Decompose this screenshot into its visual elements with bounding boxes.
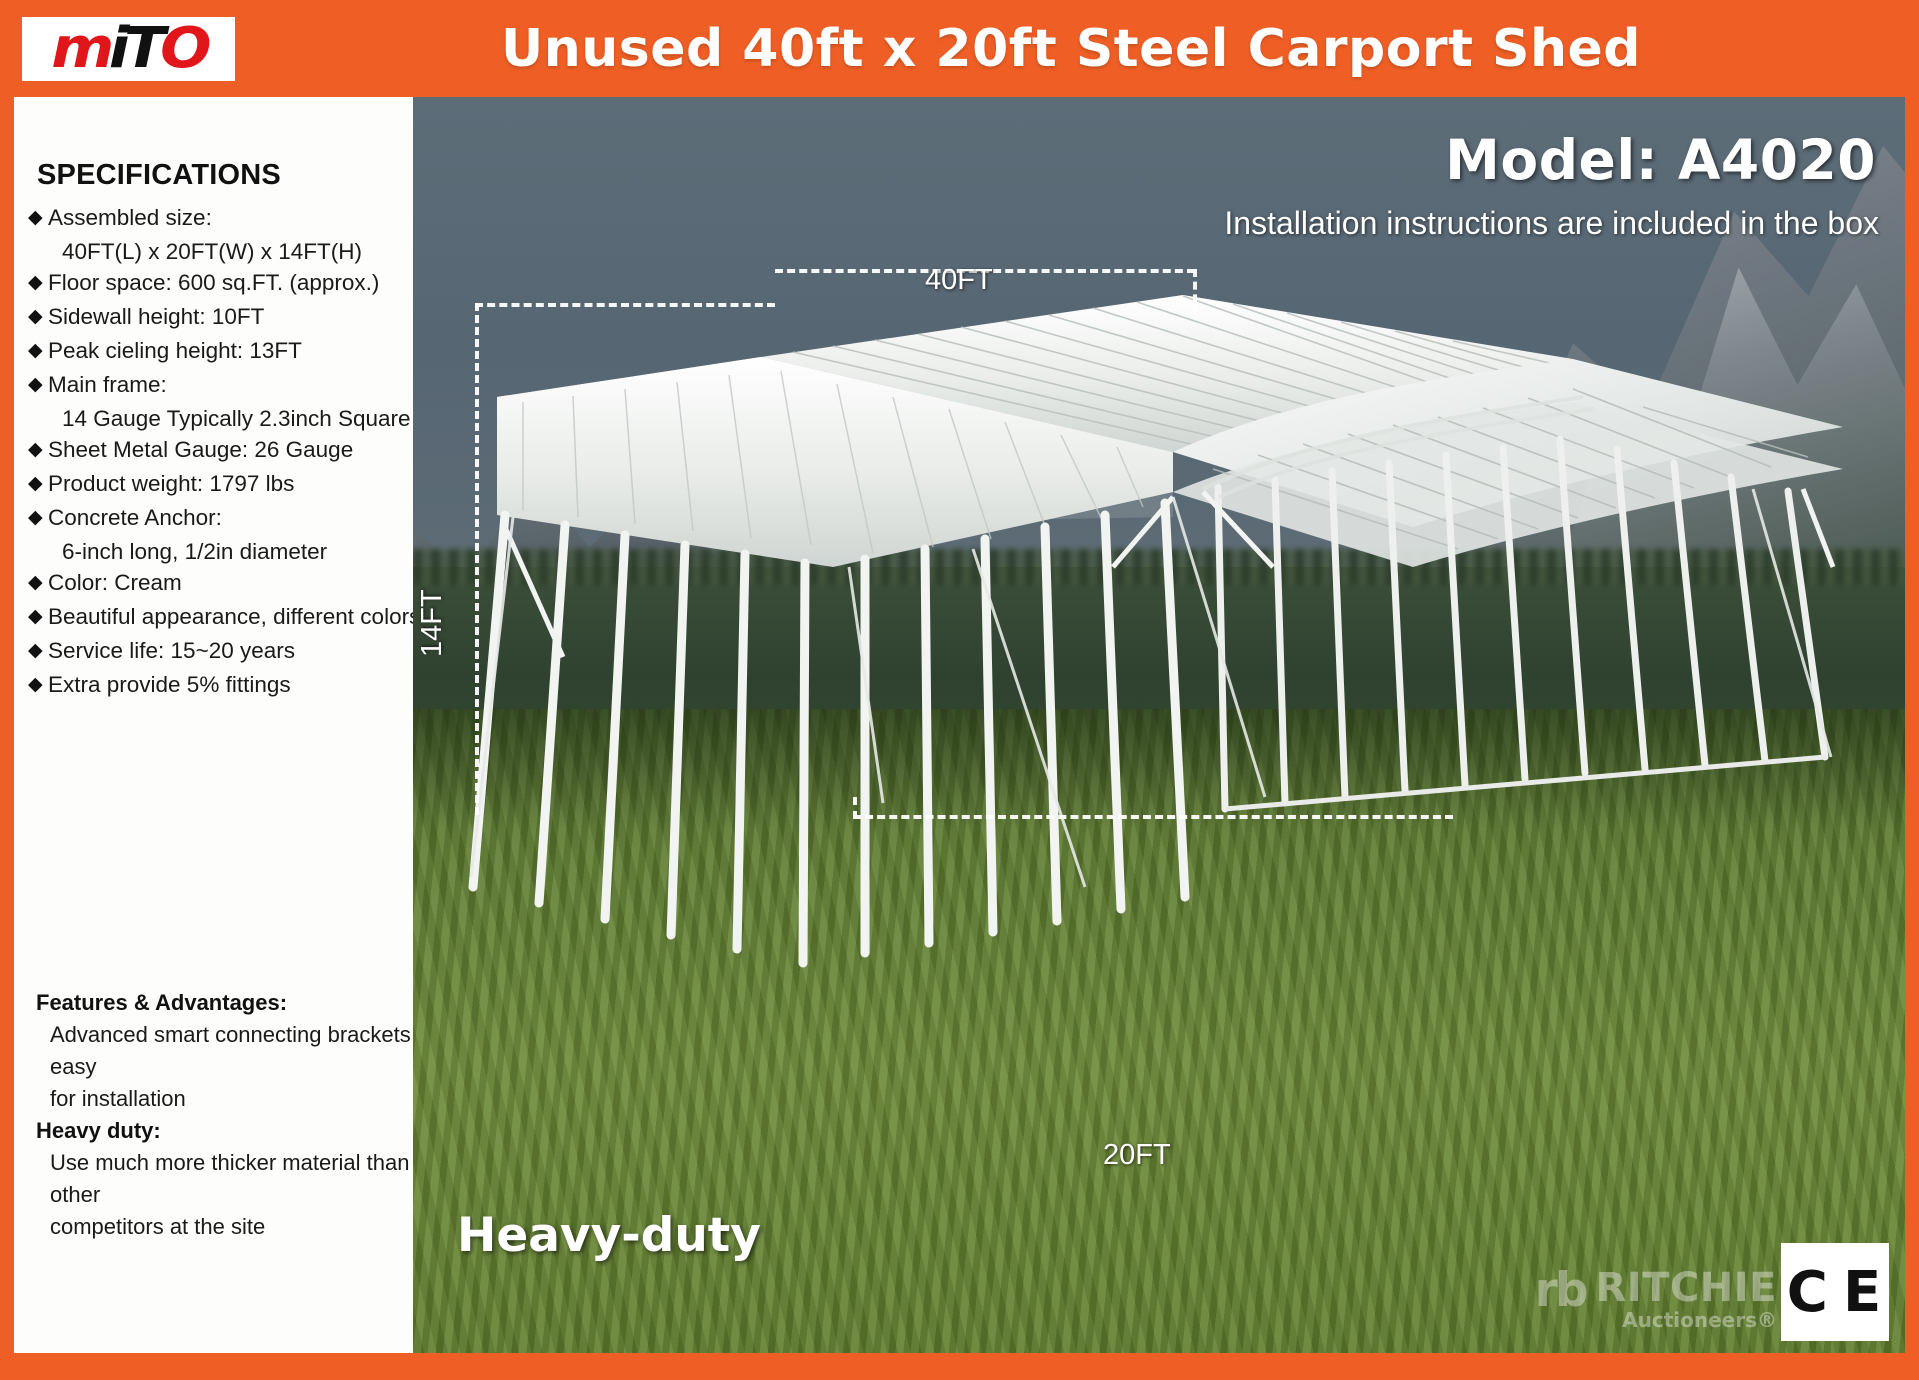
features-line-1: Advanced smart connecting brackets easy: [50, 1019, 413, 1083]
mito-logo-wordmark: miTO: [51, 21, 206, 77]
spec-item-label: Color: Cream: [48, 567, 182, 598]
spec-item-detail: 6-inch long, 1/2in diameter: [62, 536, 403, 567]
spec-item-label: Beautiful appearance, different colors: [48, 601, 413, 632]
diamond-bullet-icon: ◆: [28, 369, 48, 400]
logo-letter-o: O: [160, 17, 206, 81]
features-line-2: for installation: [50, 1083, 413, 1115]
diamond-bullet-icon: ◆: [28, 601, 48, 632]
spec-item-label: Service life: 15~20 years: [48, 635, 295, 666]
diamond-bullet-icon: ◆: [28, 434, 48, 465]
mito-logo: miTO: [22, 17, 235, 81]
spec-item-label: Extra provide 5% fittings: [48, 669, 291, 700]
page-title: Unused 40ft x 20ft Steel Carport Shed: [246, 0, 1896, 97]
spec-item: ◆Concrete Anchor:: [28, 502, 403, 533]
diamond-bullet-icon: ◆: [28, 267, 48, 298]
spec-item: ◆Color: Cream: [28, 567, 403, 598]
spec-item: ◆Product weight: 1797 lbs: [28, 468, 403, 499]
spec-item-label: Sidewall height: 10FT: [48, 301, 264, 332]
product-spec-poster: miTO Unused 40ft x 20ft Steel Carport Sh…: [0, 0, 1919, 1380]
logo-letters-it: iT: [109, 17, 160, 81]
installation-note: Installation instructions are included i…: [1224, 205, 1879, 242]
spec-item-label: Peak cieling height: 13FT: [48, 335, 302, 366]
dimension-guide-top-left: [475, 303, 775, 307]
heavy-duty-caption: Heavy-duty: [457, 1208, 761, 1263]
diamond-bullet-icon: ◆: [28, 468, 48, 499]
spec-item-label: Product weight: 1797 lbs: [48, 468, 294, 499]
spec-item: ◆Main frame:: [28, 369, 403, 400]
features-line-3: Use much more thicker material than othe…: [50, 1147, 413, 1211]
dimension-guide-bottom-left: [853, 797, 857, 819]
spec-item-label: Floor space: 600 sq.FT. (approx.): [48, 267, 379, 298]
diamond-bullet-icon: ◆: [28, 669, 48, 700]
features-line-4: competitors at the site: [50, 1211, 413, 1243]
spec-item-label: Sheet Metal Gauge: 26 Gauge: [48, 434, 353, 465]
dimension-label-width: 20FT: [1103, 1139, 1171, 1172]
specifications-panel: SPECIFICATIONS ◆Assembled size:40FT(L) x…: [14, 97, 413, 1353]
spec-item: ◆Peak cieling height: 13FT: [28, 335, 403, 366]
spec-item-detail: 40FT(L) x 20FT(W) x 14FT(H): [62, 236, 403, 267]
features-advantages-section: Features & Advantages: Advanced smart co…: [28, 987, 413, 1243]
logo-letter-m: m: [51, 17, 109, 81]
spec-item-detail: 14 Gauge Typically 2.3inch Square Tube: [62, 403, 403, 434]
diamond-bullet-icon: ◆: [28, 567, 48, 598]
spec-item-label: Assembled size:: [48, 202, 212, 233]
dimension-label-height: 14FT: [416, 589, 449, 657]
spec-item: ◆Floor space: 600 sq.FT. (approx.): [28, 267, 403, 298]
diamond-bullet-icon: ◆: [28, 635, 48, 666]
dimension-guide-height: [475, 303, 479, 815]
posts-front-row: [473, 503, 1185, 963]
diamond-bullet-icon: ◆: [28, 202, 48, 233]
ce-mark: C E: [1781, 1243, 1889, 1341]
ce-mark-glyph: C E: [1787, 1260, 1884, 1325]
dimension-guide-right-vertical: [1193, 269, 1197, 315]
spec-item: ◆Extra provide 5% fittings: [28, 669, 403, 700]
dimension-label-length: 40FT: [925, 264, 993, 297]
model-label: Model: A4020: [1445, 128, 1876, 192]
product-photo: 40FT 20FT 14FT Model: A4020 Installation…: [413, 97, 1905, 1353]
specifications-heading: SPECIFICATIONS: [37, 159, 403, 192]
spec-item: ◆Assembled size:: [28, 202, 403, 233]
dimension-guide-bottom-width: [853, 815, 1453, 819]
poster-header: miTO Unused 40ft x 20ft Steel Carport Sh…: [0, 0, 1919, 97]
spec-item-label: Main frame:: [48, 369, 167, 400]
spec-item: ◆Sidewall height: 10FT: [28, 301, 403, 332]
features-heading: Features & Advantages:: [36, 987, 413, 1019]
spec-item: ◆Beautiful appearance, different colors: [28, 601, 403, 632]
spec-item: ◆Service life: 15~20 years: [28, 635, 403, 666]
specifications-list: ◆Assembled size:40FT(L) x 20FT(W) x 14FT…: [28, 202, 403, 700]
diamond-bullet-icon: ◆: [28, 335, 48, 366]
poster-body: SPECIFICATIONS ◆Assembled size:40FT(L) x…: [14, 97, 1905, 1353]
features-subheading-heavy-duty: Heavy duty:: [36, 1115, 413, 1147]
spec-item-label: Concrete Anchor:: [48, 502, 222, 533]
diamond-bullet-icon: ◆: [28, 301, 48, 332]
spec-item: ◆Sheet Metal Gauge: 26 Gauge: [28, 434, 403, 465]
diamond-bullet-icon: ◆: [28, 502, 48, 533]
